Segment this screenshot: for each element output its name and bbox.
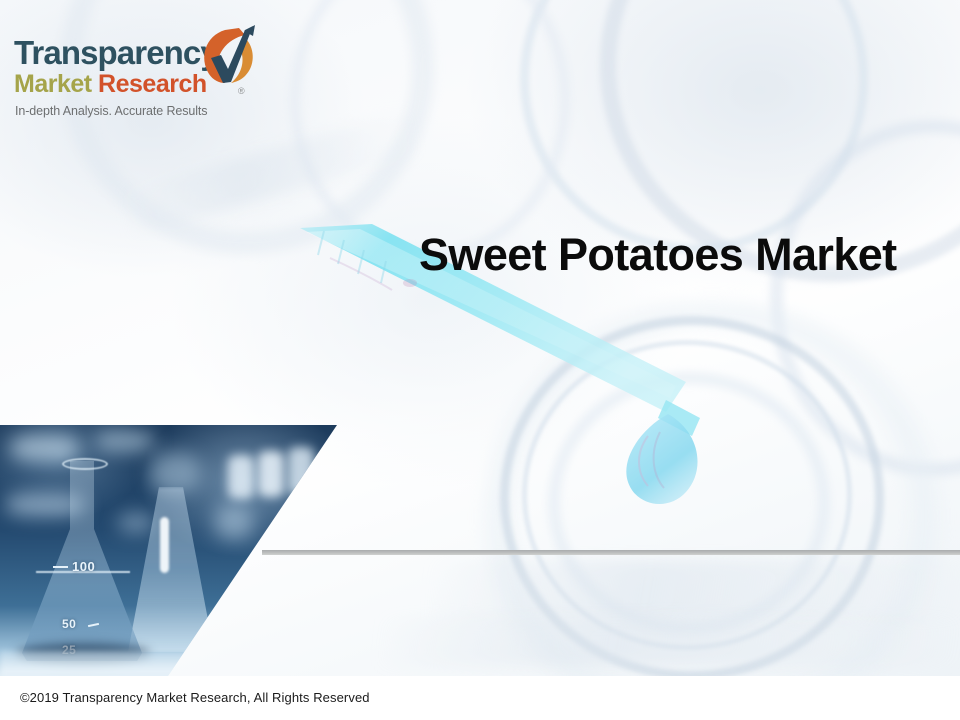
cloth-band: [430, 560, 960, 620]
blurred-glassware: [95, 430, 155, 452]
blurred-glassware: [10, 435, 80, 461]
logo-tagline: In-depth Analysis. Accurate Results: [15, 104, 207, 118]
blurred-glassware: [118, 513, 154, 533]
beaker-ring-inner: [548, 372, 830, 634]
logo-text-market: Market: [14, 70, 92, 98]
glass-rim-icon: [770, 120, 960, 476]
flask-graduation-100: 100: [72, 559, 95, 574]
background-flask-highlight: [160, 517, 169, 573]
glass-rim-icon: [290, 0, 570, 260]
page-title: Sweet Potatoes Market: [419, 230, 939, 280]
footer-copyright: ©2019 Transparency Market Research, All …: [20, 690, 370, 705]
flask-graduation-50: 50: [62, 617, 76, 631]
graduation-dash: [53, 566, 68, 568]
flask-lip: [62, 458, 108, 470]
cloth-band: [380, 618, 960, 666]
checkmark-swoosh-icon: [195, 22, 261, 92]
logo-text-market-research: Market Research: [14, 72, 207, 97]
blurred-glassware: [215, 505, 253, 539]
registered-trademark-icon: ®: [238, 86, 245, 96]
horizontal-divider: [262, 550, 960, 555]
blurred-test-tube: [258, 451, 284, 497]
presentation-slide: 100 50 25 Sweet Potatoes Market Transpar…: [0, 0, 960, 720]
beaker-ring-shadow: [486, 300, 938, 676]
logo-text-transparency: Transparency: [14, 36, 218, 69]
company-logo[interactable]: Transparency Market Research In-depth An…: [10, 22, 260, 132]
logo-text-research: Research: [98, 70, 207, 98]
beaker-ring-middle: [522, 340, 852, 650]
blurred-test-tube: [228, 455, 254, 499]
beaker-ring-outer: [500, 316, 884, 676]
glass-rim-icon: [520, 0, 868, 253]
